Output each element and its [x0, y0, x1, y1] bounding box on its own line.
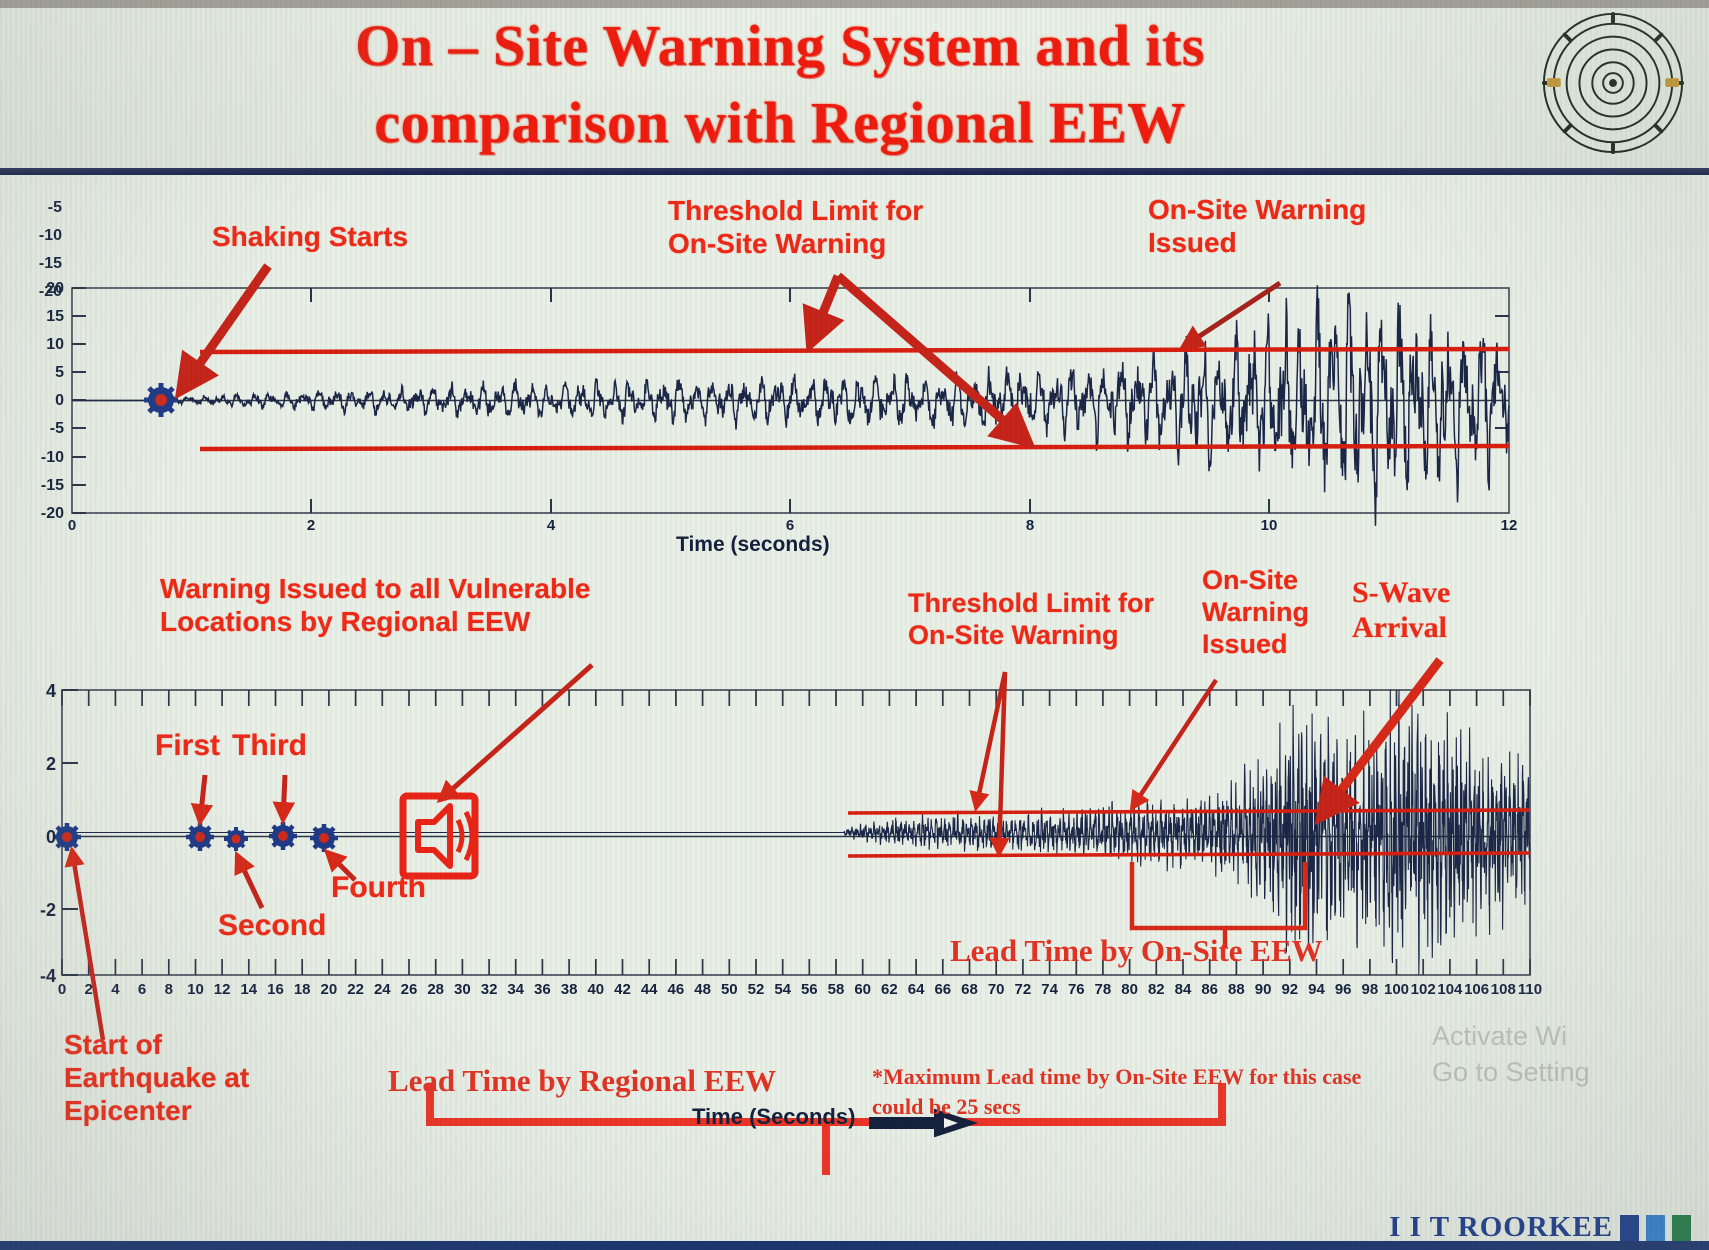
brand-swatch-blue-light-icon — [1646, 1215, 1665, 1241]
watermark-line-1: Activate Wi — [1432, 1018, 1590, 1054]
top-ytick-neg10: -10 — [22, 449, 64, 467]
bottom-xtick-38: 38 — [555, 981, 583, 998]
bottom-xtick-102: 102 — [1409, 981, 1437, 998]
bottom-xtick-18: 18 — [288, 981, 316, 998]
top-ytick-20: 20 — [22, 280, 64, 298]
page-title: On – Site Warning System and its compari… — [120, 8, 1440, 161]
top-ytick--15: -15 — [22, 255, 62, 273]
bottom-xtick-0: 0 — [48, 981, 76, 998]
bottom-xtick-66: 66 — [929, 981, 957, 998]
footer-brand: I I T ROORKEE — [1389, 1211, 1691, 1244]
bottom-xtick-58: 58 — [822, 981, 850, 998]
bottom-xtick-96: 96 — [1329, 981, 1357, 998]
annotation-s-wave-arrival-line-1: S-Wave — [1352, 575, 1450, 610]
iit-roorkee-emblem-icon — [1539, 8, 1687, 158]
top-xtick-8: 8 — [1016, 517, 1044, 534]
bottom-xtick-16: 16 — [262, 981, 290, 998]
annotation-regional-warning-line-1: Warning Issued to all Vulnerable — [160, 572, 590, 605]
annotation-s-wave-arrival-line-2: Arrival — [1352, 610, 1450, 645]
bottom-xtick-110: 110 — [1516, 981, 1544, 998]
bottom-chart-xaxis-label: Time (Seconds) — [692, 1104, 855, 1130]
annotation-warning-issued-top-line-2: Issued — [1148, 226, 1366, 259]
bottom-xtick-6: 6 — [128, 981, 156, 998]
top-xtick-6: 6 — [776, 517, 804, 534]
bottom-xtick-56: 56 — [795, 981, 823, 998]
annotation-s-wave-arrival: S-Wave Arrival — [1352, 575, 1450, 646]
slide-header: On – Site Warning System and its compari… — [0, 0, 1709, 175]
annotation-start-of-earthquake-line-3: Epicenter — [64, 1094, 249, 1127]
bottom-xtick-36: 36 — [528, 981, 556, 998]
bottom-xtick-90: 90 — [1249, 981, 1277, 998]
top-xtick-12: 12 — [1495, 517, 1523, 534]
top-xtick-2: 2 — [297, 517, 325, 534]
bottom-ytick-0: 0 — [22, 827, 56, 848]
bottom-xtick-32: 32 — [475, 981, 503, 998]
top-xtick-10: 10 — [1255, 517, 1283, 534]
annotation-max-lead-note: *Maximum Lead time by On-Site EEW for th… — [872, 1062, 1492, 1121]
top-ytick-neg15: -15 — [22, 477, 64, 495]
bottom-xtick-60: 60 — [849, 981, 877, 998]
bottom-xtick-62: 62 — [875, 981, 903, 998]
annotation-start-of-earthquake-line-1: Start of — [64, 1028, 249, 1061]
top-ytick--10: -10 — [22, 227, 62, 245]
bottom-xtick-106: 106 — [1463, 981, 1491, 998]
annotation-warning-issued-top: On-Site Warning Issued — [1148, 193, 1366, 259]
bottom-xtick-40: 40 — [582, 981, 610, 998]
annotation-warning-issued-top-line-1: On-Site Warning — [1148, 193, 1366, 226]
bottom-xtick-28: 28 — [422, 981, 450, 998]
annotation-threshold-limit-top-line-2: On-Site Warning — [668, 227, 923, 260]
annotation-lead-time-onsite: Lead Time by On-Site EEW — [950, 930, 1323, 972]
bottom-xtick-74: 74 — [1036, 981, 1064, 998]
bottom-xtick-94: 94 — [1303, 981, 1331, 998]
annotation-max-lead-note-line-2: could be 25 secs — [872, 1092, 1492, 1122]
annotation-regional-warning-line-2: Locations by Regional EEW — [160, 605, 590, 638]
top-chart-xaxis-label: Time (seconds) — [676, 533, 830, 557]
bottom-xtick-98: 98 — [1356, 981, 1384, 998]
annotation-threshold-limit-bottom-line-2: On-Site Warning — [908, 620, 1154, 652]
brand-swatch-blue-dark-icon — [1620, 1215, 1639, 1241]
page-title-line-1: On – Site Warning System and its — [120, 8, 1440, 85]
bottom-xtick-42: 42 — [609, 981, 637, 998]
bottom-xtick-24: 24 — [368, 981, 396, 998]
annotation-lead-time-regional: Lead Time by Regional EEW — [388, 1060, 776, 1102]
header-divider — [0, 168, 1709, 175]
annotation-second: Second — [218, 908, 326, 943]
bottom-xtick-22: 22 — [342, 981, 370, 998]
bottom-xtick-80: 80 — [1116, 981, 1144, 998]
bottom-xtick-54: 54 — [769, 981, 797, 998]
bottom-xtick-12: 12 — [208, 981, 236, 998]
footer-brand-label: I I T ROORKEE — [1389, 1211, 1613, 1244]
annotation-threshold-limit-top-line-1: Threshold Limit for — [668, 194, 923, 227]
annotation-max-lead-note-line-1: *Maximum Lead time by On-Site EEW for th… — [872, 1062, 1492, 1092]
slide-canvas: On – Site Warning System and its compari… — [0, 0, 1709, 1250]
bottom-ytick-neg2: -2 — [22, 900, 56, 921]
bottom-xtick-2: 2 — [75, 981, 103, 998]
bottom-xtick-4: 4 — [101, 981, 129, 998]
bottom-xtick-46: 46 — [662, 981, 690, 998]
annotation-shaking-starts: Shaking Starts — [212, 220, 408, 253]
bottom-xtick-70: 70 — [982, 981, 1010, 998]
bottom-xtick-8: 8 — [155, 981, 183, 998]
bottom-xtick-84: 84 — [1169, 981, 1197, 998]
header-top-strip — [0, 0, 1709, 8]
top-ytick-0: 0 — [22, 392, 64, 410]
bottom-xtick-108: 108 — [1489, 981, 1517, 998]
footer-bar — [0, 1241, 1709, 1250]
annotation-start-of-earthquake-line-2: Earthquake at — [64, 1061, 249, 1094]
brand-swatch-green-icon — [1672, 1215, 1691, 1241]
top-ytick-5: 5 — [22, 364, 64, 382]
bottom-xtick-10: 10 — [182, 981, 210, 998]
bottom-xtick-100: 100 — [1383, 981, 1411, 998]
bottom-xtick-48: 48 — [689, 981, 717, 998]
bottom-xtick-14: 14 — [235, 981, 263, 998]
bottom-xtick-86: 86 — [1196, 981, 1224, 998]
annotation-threshold-limit-bottom-line-1: Threshold Limit for — [908, 588, 1154, 620]
bottom-xtick-72: 72 — [1009, 981, 1037, 998]
annotation-warning-issued-bottom-line-3: Issued — [1202, 629, 1309, 661]
top-ytick--5: -5 — [22, 199, 62, 217]
annotation-third: Third — [232, 728, 307, 763]
annotation-warning-issued-bottom-line-2: Warning — [1202, 597, 1309, 629]
bottom-xtick-52: 52 — [742, 981, 770, 998]
bottom-ytick-4: 4 — [22, 681, 56, 702]
bottom-xtick-104: 104 — [1436, 981, 1464, 998]
annotation-warning-issued-bottom-line-1: On-Site — [1202, 565, 1309, 597]
bottom-xtick-20: 20 — [315, 981, 343, 998]
top-ytick-neg5: -5 — [22, 420, 64, 438]
bottom-ytick-2: 2 — [22, 754, 56, 775]
bottom-chart — [0, 660, 1709, 1080]
bottom-xtick-44: 44 — [635, 981, 663, 998]
annotation-regional-warning: Warning Issued to all Vulnerable Locatio… — [160, 572, 590, 638]
bottom-xtick-76: 76 — [1062, 981, 1090, 998]
top-xtick-0: 0 — [58, 517, 86, 534]
bottom-xtick-30: 30 — [448, 981, 476, 998]
bottom-xtick-26: 26 — [395, 981, 423, 998]
bottom-xtick-92: 92 — [1276, 981, 1304, 998]
bottom-xtick-68: 68 — [956, 981, 984, 998]
bottom-xtick-82: 82 — [1142, 981, 1170, 998]
activate-windows-watermark: Activate Wi Go to Setting — [1432, 1018, 1590, 1091]
top-ytick-15: 15 — [22, 308, 64, 326]
bottom-xtick-34: 34 — [502, 981, 530, 998]
bottom-xtick-50: 50 — [715, 981, 743, 998]
bottom-xtick-64: 64 — [902, 981, 930, 998]
top-ytick-10: 10 — [22, 336, 64, 354]
annotation-start-of-earthquake: Start of Earthquake at Epicenter — [64, 1028, 249, 1127]
annotation-threshold-limit-bottom: Threshold Limit for On-Site Warning — [908, 588, 1154, 652]
annotation-threshold-limit-top: Threshold Limit for On-Site Warning — [668, 194, 923, 260]
annotation-warning-issued-bottom: On-Site Warning Issued — [1202, 565, 1309, 661]
annotation-fourth: Fourth — [331, 870, 426, 905]
bottom-xtick-78: 78 — [1089, 981, 1117, 998]
top-xtick-4: 4 — [537, 517, 565, 534]
page-title-line-2: comparison with Regional EEW — [120, 85, 1440, 162]
watermark-line-2: Go to Setting — [1432, 1054, 1590, 1090]
bottom-xtick-88: 88 — [1222, 981, 1250, 998]
annotation-first: First — [155, 728, 220, 763]
